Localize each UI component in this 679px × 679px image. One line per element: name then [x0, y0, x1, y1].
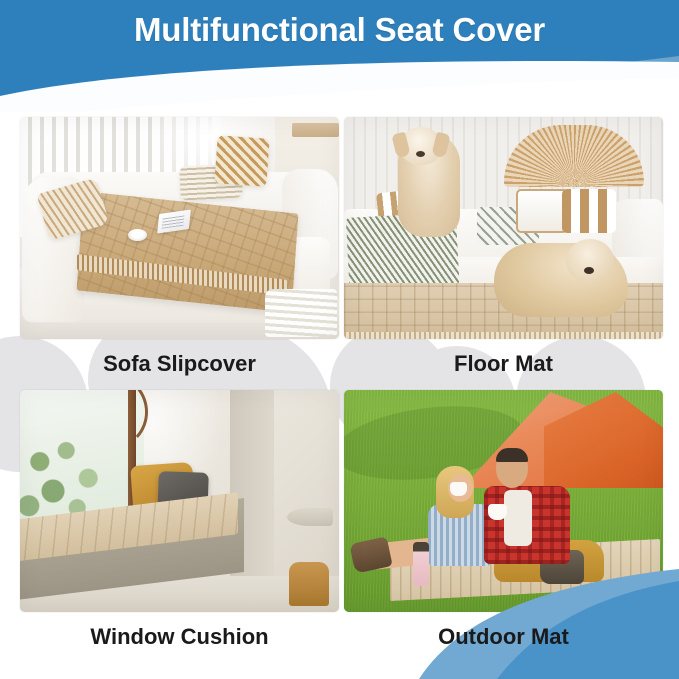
- photo-floor-mat: [344, 117, 663, 339]
- floor-mat-fringe: [344, 332, 663, 339]
- caption-floor-mat: Floor Mat: [344, 339, 663, 389]
- photo-window-cushion: [20, 390, 339, 612]
- teacup: [128, 229, 147, 241]
- man-white-tshirt: [504, 490, 532, 546]
- wood-shelf: [292, 123, 339, 137]
- photo-sofa-slipcover: [20, 117, 339, 339]
- page-title: Multifunctional Seat Cover: [0, 8, 679, 52]
- caption-outdoor-mat: Outdoor Mat: [344, 612, 663, 662]
- mug-man: [488, 504, 507, 520]
- dog-head-lower: [566, 239, 614, 283]
- caption-window-cushion: Window Cushion: [20, 612, 339, 662]
- infographic-page: Multifunctional Seat Cover: [0, 0, 679, 679]
- striped-pillow-right: [214, 135, 269, 187]
- striped-pillow-right: [562, 189, 616, 233]
- mug-woman: [450, 482, 467, 496]
- dog-nose-lower: [584, 267, 594, 274]
- panel-outdoor-mat: Outdoor Mat: [344, 390, 663, 662]
- dog-nose-upper: [416, 151, 425, 157]
- wooden-stool: [289, 562, 329, 606]
- side-table: [287, 508, 333, 526]
- white-bordered-pillow: [516, 189, 568, 233]
- header-wave-white-2: [0, 61, 679, 112]
- panel-sofa-slipcover: Sofa Slipcover: [20, 117, 339, 389]
- panel-floor-mat: Floor Mat: [344, 117, 663, 389]
- floor-cushion: [265, 289, 337, 337]
- header-banner: Multifunctional Seat Cover: [0, 0, 679, 112]
- caption-sofa-slipcover: Sofa Slipcover: [20, 339, 339, 389]
- panel-window-cushion: Window Cushion: [20, 390, 339, 662]
- man-hair: [496, 448, 528, 462]
